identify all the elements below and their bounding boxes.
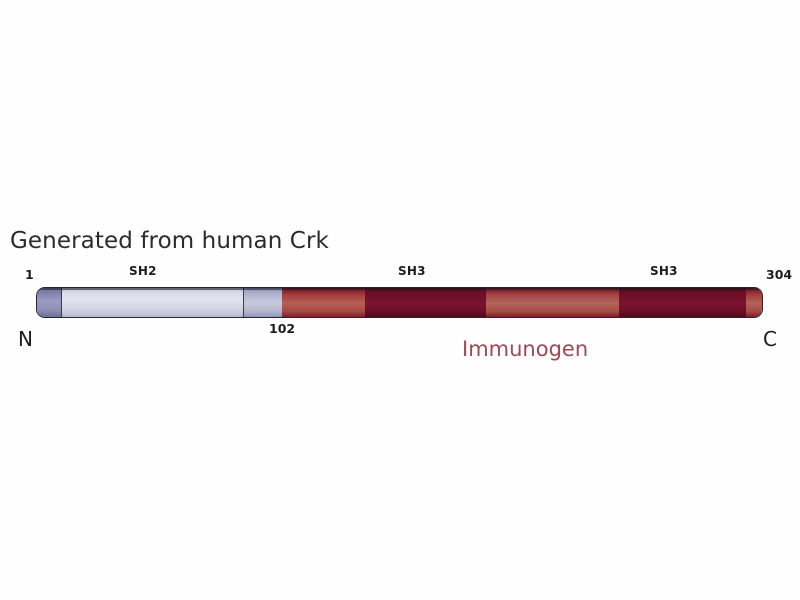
segment-sh3-domain-1: [365, 288, 486, 317]
immunogen-label: Immunogen: [462, 337, 588, 361]
residue-end-label: 304: [766, 267, 792, 282]
segment-c-terminal-cap: [746, 288, 762, 317]
residue-boundary-label: 102: [269, 321, 295, 336]
domain-label-sh3-1: SH3: [398, 264, 426, 278]
protein-bar: [36, 287, 763, 318]
protein-bar-body: [36, 287, 763, 318]
segment-n-terminal-cap: [37, 288, 61, 317]
c-terminus-label: C: [763, 327, 777, 351]
n-terminus-label: N: [18, 327, 33, 351]
page-title: Generated from human Crk: [10, 227, 329, 255]
segment-blue-linker: [244, 288, 282, 317]
segment-red-linker-1: [282, 288, 365, 317]
residue-start-label: 1: [25, 267, 34, 282]
domain-label-sh2: SH2: [129, 264, 157, 278]
segment-sh3-domain-2: [619, 288, 746, 317]
protein-domain-figure: Generated from human Crk 1 SH2 SH3 SH3 3…: [0, 0, 800, 600]
segment-sh2-domain: [61, 288, 244, 317]
segment-red-linker-2: [486, 288, 619, 317]
domain-label-sh3-2: SH3: [650, 264, 678, 278]
